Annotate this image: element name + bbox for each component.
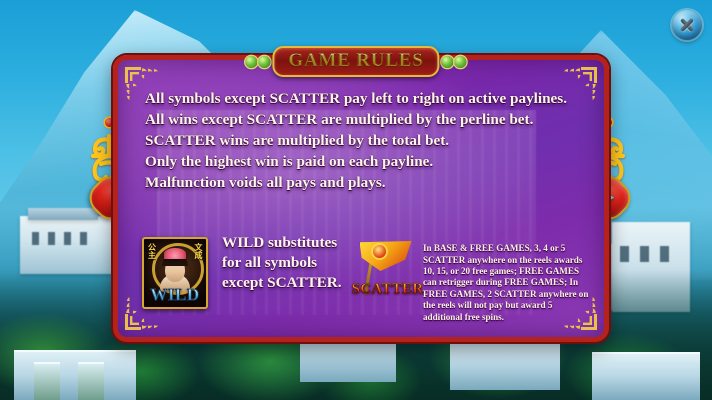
wild-description-line: for all symbols <box>222 253 342 273</box>
jade-beads-left <box>245 56 270 68</box>
wild-symbol-tile: 文成 公主 WILD <box>142 237 208 309</box>
rule-item: Malfunction voids all pays and plays. <box>145 172 577 193</box>
wild-description: WILD substitutes for all symbols except … <box>222 233 342 293</box>
wild-description-line: except SCATTER. <box>222 273 342 293</box>
rule-item: All wins except SCATTER are multiplied b… <box>145 109 577 130</box>
scatter-flag-icon <box>360 241 412 271</box>
rule-item: SCATTER wins are multiplied by the total… <box>145 130 577 151</box>
wild-symbol-label: WILD <box>144 286 206 303</box>
scatter-symbol-tile: SCATTER <box>352 241 424 299</box>
jade-bead-icon <box>258 56 270 68</box>
jade-bead-icon <box>245 56 257 68</box>
jade-beads-right <box>442 56 467 68</box>
rules-list: All symbols except SCATTER pay left to r… <box>145 88 577 193</box>
page-title: GAME RULES <box>288 50 423 71</box>
rule-item: Only the highest win is paid on each pay… <box>145 151 577 172</box>
rule-item: All symbols except SCATTER pay left to r… <box>145 88 577 109</box>
wild-chinese-right: 文成 <box>194 243 204 259</box>
wild-chinese-left: 公主 <box>147 243 157 259</box>
jade-bead-icon <box>442 56 454 68</box>
title-plaque-body: GAME RULES <box>272 46 439 77</box>
title-plaque: GAME RULES <box>245 46 466 77</box>
wild-figure-crown <box>164 248 186 259</box>
wild-description-line: WILD substitutes <box>222 233 342 253</box>
free-games-note: In BASE & FREE GAMES, 3, 4 or 5 SCATTER … <box>423 243 590 323</box>
game-rules-panel: All symbols except SCATTER pay left to r… <box>113 55 609 342</box>
close-icon[interactable] <box>672 10 702 40</box>
scatter-symbol-label: SCATTER <box>352 282 424 297</box>
game-rules-screen: All symbols except SCATTER pay left to r… <box>0 0 712 400</box>
jade-bead-icon <box>455 56 467 68</box>
